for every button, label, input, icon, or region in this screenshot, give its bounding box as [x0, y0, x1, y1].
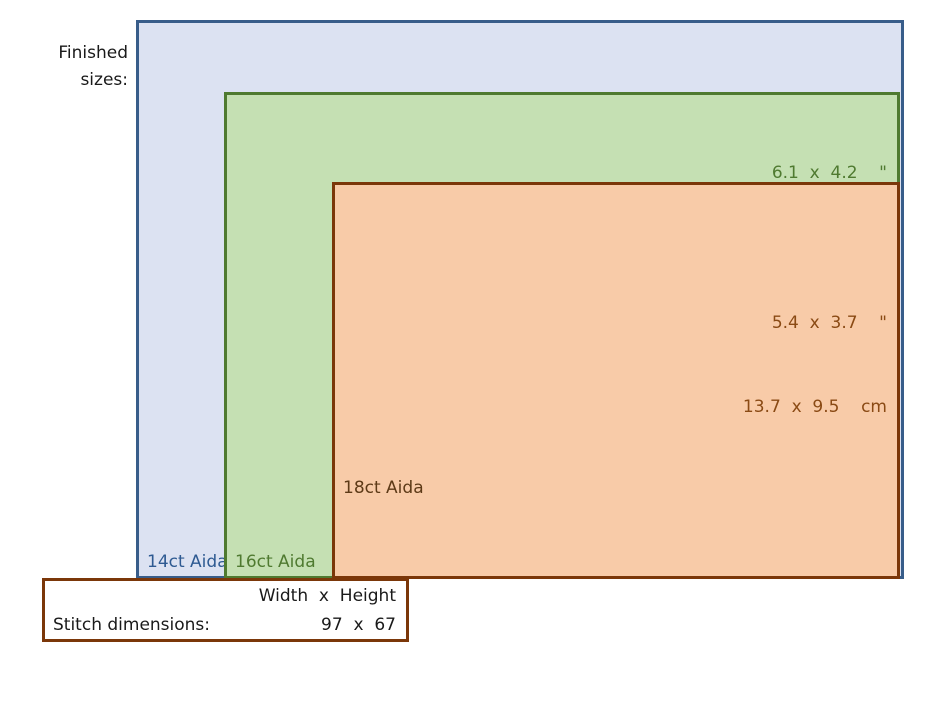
fabric-label-18ct: 18ct Aida — [343, 477, 424, 499]
finished-sizes-caption: Finished sizes: — [10, 40, 128, 94]
caption-line-1: Finished — [10, 40, 128, 67]
stitch-dimensions-box: Width x Height Stitch dimensions: 97 x 6… — [42, 578, 409, 642]
fabric-label-14ct: 14ct Aida — [147, 551, 228, 573]
stitch-header-row: Width x Height — [53, 582, 398, 610]
fabric-rect-18ct: 5.4 x 3.7 " 13.7 x 9.5 cm 18ct Aida — [332, 182, 900, 579]
stitch-header-value: Width x Height — [259, 582, 396, 610]
size-readout-18ct: 5.4 x 3.7 " 13.7 x 9.5 cm — [743, 253, 887, 477]
size-cm-18ct: 13.7 x 9.5 cm — [743, 393, 887, 421]
stitch-body-label: Stitch dimensions: — [53, 611, 210, 639]
size-inches-18ct: 5.4 x 3.7 " — [743, 309, 887, 337]
stitch-body-row: Stitch dimensions: 97 x 67 — [53, 611, 398, 639]
finished-sizes-diagram: Finished sizes: 6.9 x 4.8 " 17.6 x 12.2 … — [0, 0, 952, 661]
fabric-label-16ct: 16ct Aida — [235, 551, 316, 573]
stitch-body-value: 97 x 67 — [321, 611, 396, 639]
caption-line-2: sizes: — [10, 67, 128, 94]
